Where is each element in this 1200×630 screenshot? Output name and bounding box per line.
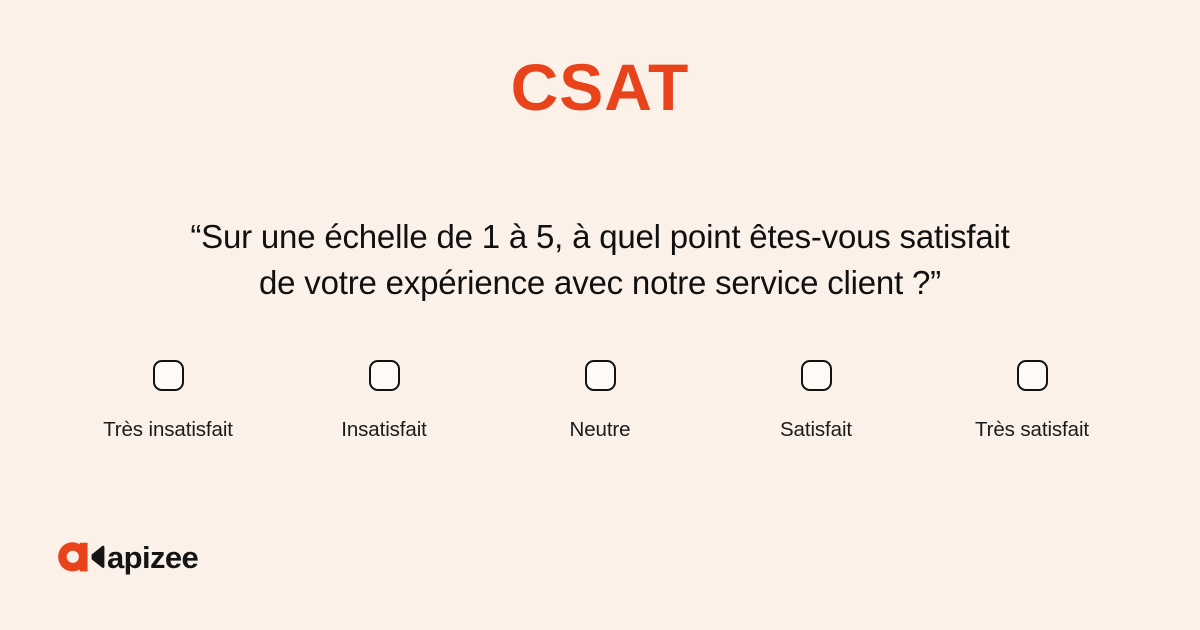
csat-poster: CSAT “Sur une échelle de 1 à 5, à quel p… xyxy=(0,0,1200,630)
rating-option-label: Neutre xyxy=(570,418,631,443)
checkbox-neutral[interactable] xyxy=(585,360,616,391)
checkbox-dissatisfied[interactable] xyxy=(369,360,400,391)
rating-option-5[interactable]: Très satisfait xyxy=(924,360,1140,443)
rating-scale: Très insatisfait Insatisfait Neutre Sati… xyxy=(60,360,1140,443)
rating-option-3[interactable]: Neutre xyxy=(492,360,708,443)
rating-option-label: Très satisfait xyxy=(975,418,1089,443)
rating-option-2[interactable]: Insatisfait xyxy=(276,360,492,443)
checkbox-very-satisfied[interactable] xyxy=(1017,360,1048,391)
apizee-logo-icon xyxy=(56,540,106,574)
rating-option-label: Très insatisfait xyxy=(103,418,233,443)
checkbox-satisfied[interactable] xyxy=(801,360,832,391)
rating-option-label: Insatisfait xyxy=(341,418,427,443)
rating-option-label: Satisfait xyxy=(780,418,852,443)
survey-question: “Sur une échelle de 1 à 5, à quel point … xyxy=(60,214,1140,306)
apizee-wordmark: apizee xyxy=(107,542,198,573)
page-title: CSAT xyxy=(0,54,1200,120)
survey-question-line-2: de votre expérience avec notre service c… xyxy=(60,260,1140,306)
survey-question-line-1: “Sur une échelle de 1 à 5, à quel point … xyxy=(60,214,1140,260)
rating-option-1[interactable]: Très insatisfait xyxy=(60,360,276,443)
apizee-logo: apizee xyxy=(56,540,198,574)
checkbox-very-dissatisfied[interactable] xyxy=(153,360,184,391)
rating-option-4[interactable]: Satisfait xyxy=(708,360,924,443)
